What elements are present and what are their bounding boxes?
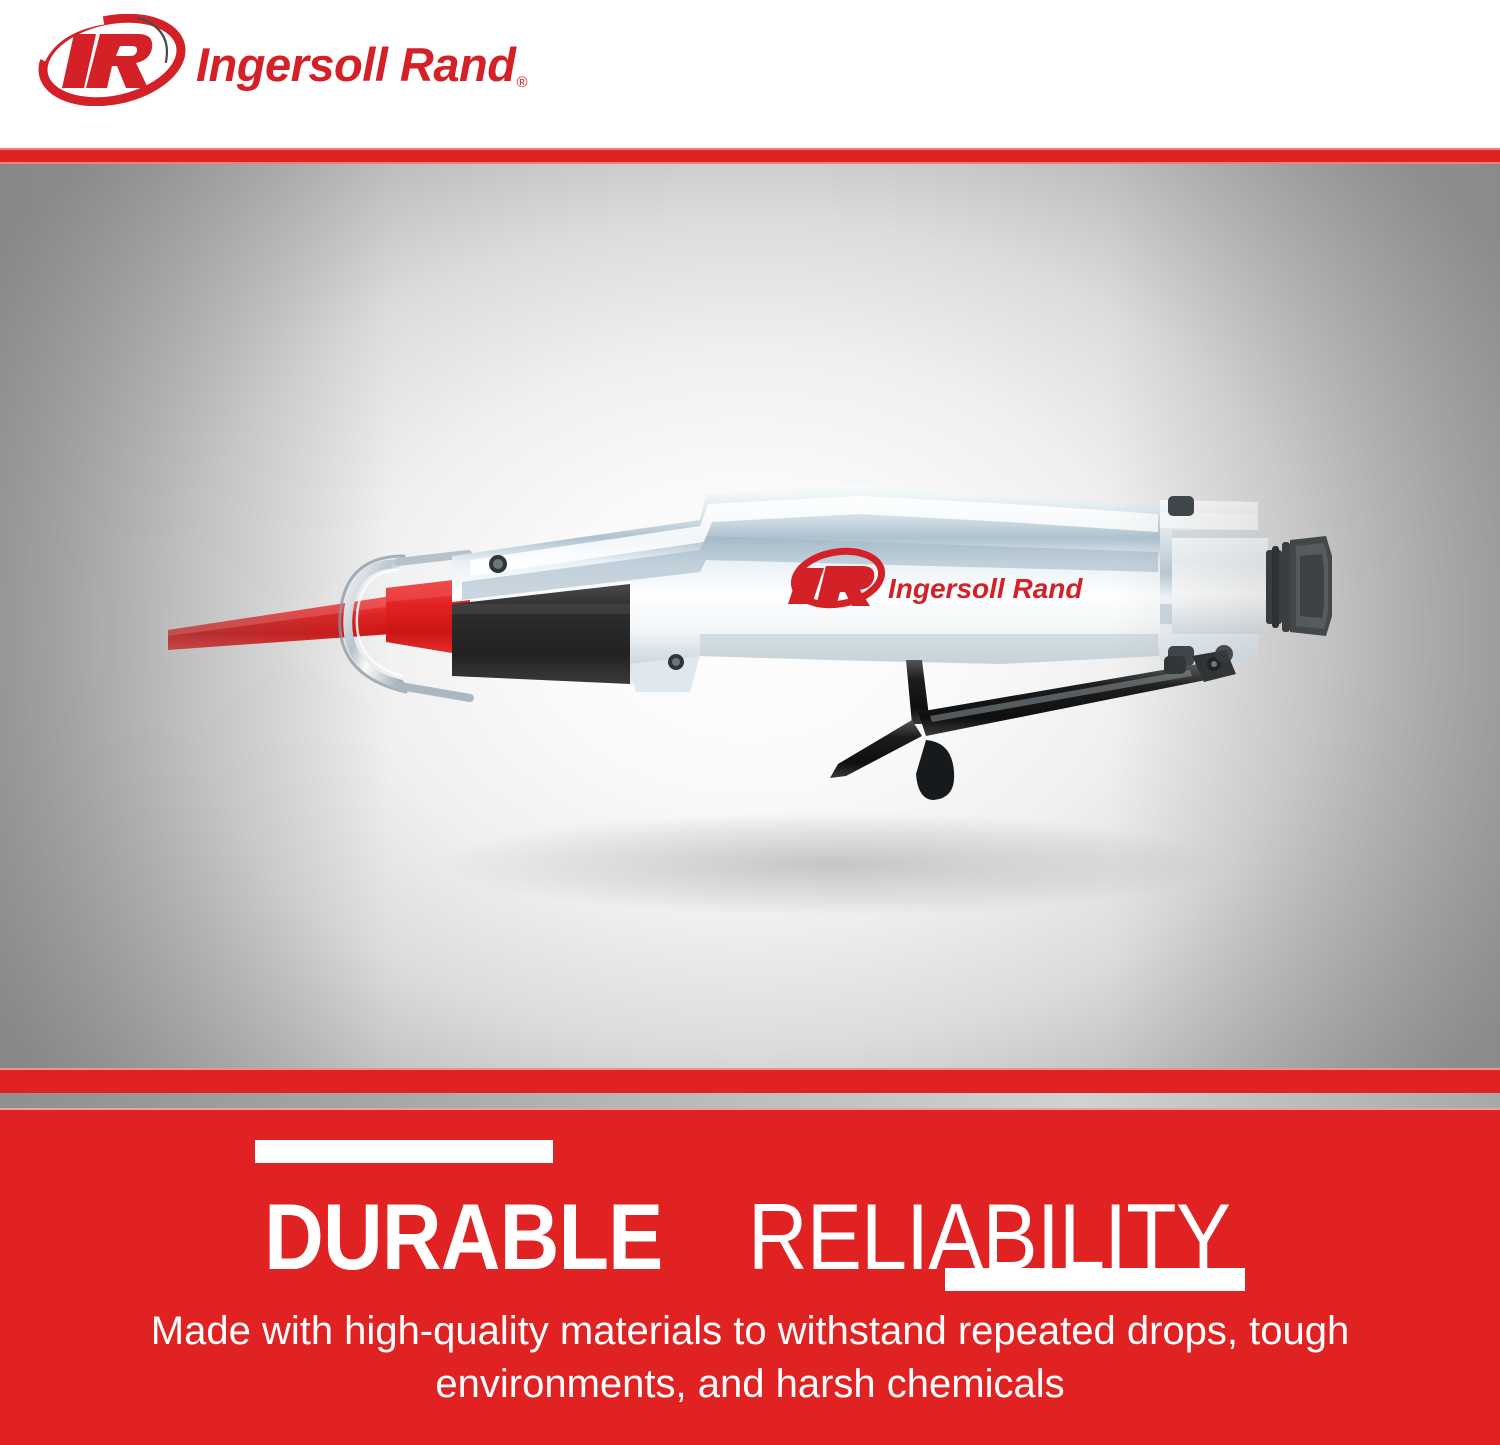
headline: DURABLERELIABILITY (0, 1190, 1500, 1284)
product-stage: Ingersoll Rand (0, 164, 1500, 1068)
accent-rule-top (255, 1140, 553, 1163)
headline-bold-word: DURABLE (264, 1190, 662, 1284)
message-banner: DURABLERELIABILITY Made with high-qualit… (0, 1108, 1500, 1445)
product-marketing-image: Ingersoll Rand® (0, 0, 1500, 1445)
divider-stripe-red (0, 1068, 1500, 1093)
brand-wordmark: Ingersoll Rand® (196, 37, 526, 92)
header-divider-rule (0, 148, 1500, 164)
brand-header: Ingersoll Rand® (0, 0, 1500, 148)
subcopy-line-2: environments, and harsh chemicals (0, 1358, 1500, 1411)
brand-name-text: Ingersoll Rand (196, 38, 515, 91)
registered-trademark-icon: ® (516, 74, 527, 91)
divider-stripe-gray (0, 1093, 1500, 1108)
air-inlet-fitting (1266, 536, 1332, 636)
ingersoll-rand-logo: Ingersoll Rand® (38, 14, 526, 106)
svg-text:Ingersoll Rand: Ingersoll Rand (888, 573, 1083, 604)
accent-rule-bottom (945, 1268, 1245, 1291)
subcopy-line-1: Made with high-quality materials to with… (0, 1305, 1500, 1358)
subcopy: Made with high-quality materials to with… (0, 1305, 1500, 1411)
ir-monogram-icon (38, 14, 186, 106)
trigger-lever (830, 650, 1236, 800)
product-photo-air-saw: Ingersoll Rand (0, 164, 1500, 1068)
